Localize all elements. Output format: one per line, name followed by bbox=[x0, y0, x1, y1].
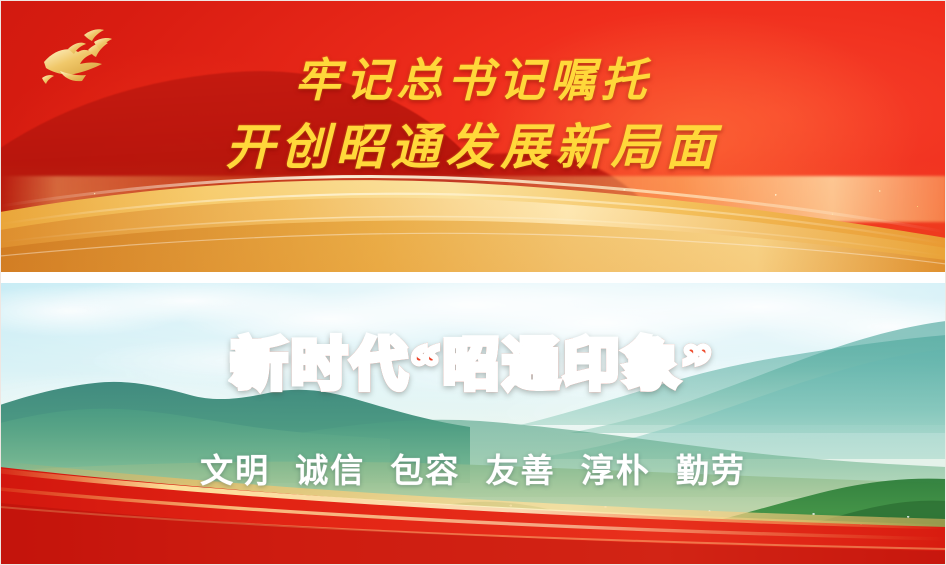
red-banner-title-line1: 牢记总书记嘱托 bbox=[0, 48, 946, 113]
virtue-item-6: 勤劳 bbox=[676, 452, 746, 489]
virtue-item-5: 淳朴 bbox=[581, 452, 651, 489]
poster-root: 牢记总书记嘱托 开创昭通发展新局面 bbox=[0, 0, 946, 565]
impression-headline: 新时代“昭通印象” bbox=[231, 338, 715, 394]
virtue-item-4: 友善 bbox=[486, 452, 556, 489]
red-propaganda-banner: 牢记总书记嘱托 开创昭通发展新局面 bbox=[0, 0, 946, 272]
red-banner-title-line2: 开创昭通发展新局面 bbox=[0, 113, 946, 183]
virtue-item-2: 诚信 bbox=[295, 452, 365, 489]
impression-headline-block: 新时代“昭通印象” bbox=[0, 338, 946, 394]
zhaotong-impression-banner: 新时代“昭通印象” 文明 诚信 包容 友善 淳朴 勤劳 bbox=[0, 283, 946, 565]
virtues-line: 文明 诚信 包容 友善 淳朴 勤劳 bbox=[0, 444, 946, 492]
virtue-item-1: 文明 bbox=[200, 452, 270, 489]
red-banner-title-block: 牢记总书记嘱托 开创昭通发展新局面 bbox=[0, 48, 946, 183]
virtue-item-3: 包容 bbox=[390, 452, 460, 489]
